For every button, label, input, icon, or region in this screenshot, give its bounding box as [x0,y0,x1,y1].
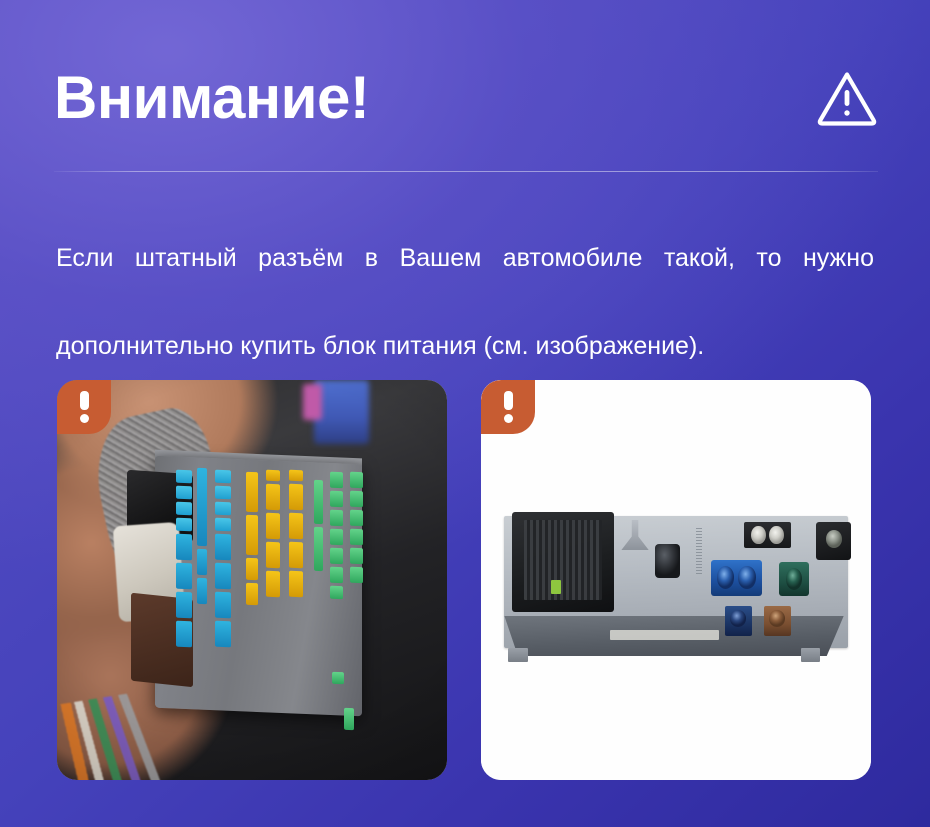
module-brown-fakra-connector [764,606,791,636]
card-connector-photo[interactable] [57,380,447,780]
module-navy-fakra-connector [725,606,752,636]
module-label [610,630,719,640]
header-divider [54,171,878,172]
module-right-black-connector [816,522,851,560]
module-round-knob [655,544,680,578]
module-green-fakra-connector [779,562,808,596]
module-connector-pins [524,520,602,600]
module-mount-foot-left [508,648,528,662]
notice-text: Если штатный разъём в Вашем автомобиле т… [56,236,874,368]
warning-banner: Внимание! Если штатный разъём в Вашем ав… [0,0,930,827]
power-supply-module-photo [481,380,871,780]
page-title: Внимание! [54,67,369,129]
notice-line-2: дополнительно купить блок питания (см. и… [56,324,874,368]
notice-line-1: Если штатный разъём в Вашем автомобиле т… [56,236,874,324]
car-wiring-connector-photo [57,380,447,780]
exclamation-mark-icon [57,380,111,434]
module-rca-jacks [744,522,791,548]
warning-triangle-icon [816,69,878,127]
module-mount-foot-right [801,648,821,662]
photo-vignette [57,380,447,780]
module-blue-fakra-connector [711,560,762,596]
image-card-row [57,380,871,780]
card-power-supply-photo[interactable] [481,380,871,780]
module-side-marking [696,528,702,576]
exclamation-mark-icon [481,380,535,434]
banner-header: Внимание! [54,52,878,144]
module-green-tab [551,580,560,594]
